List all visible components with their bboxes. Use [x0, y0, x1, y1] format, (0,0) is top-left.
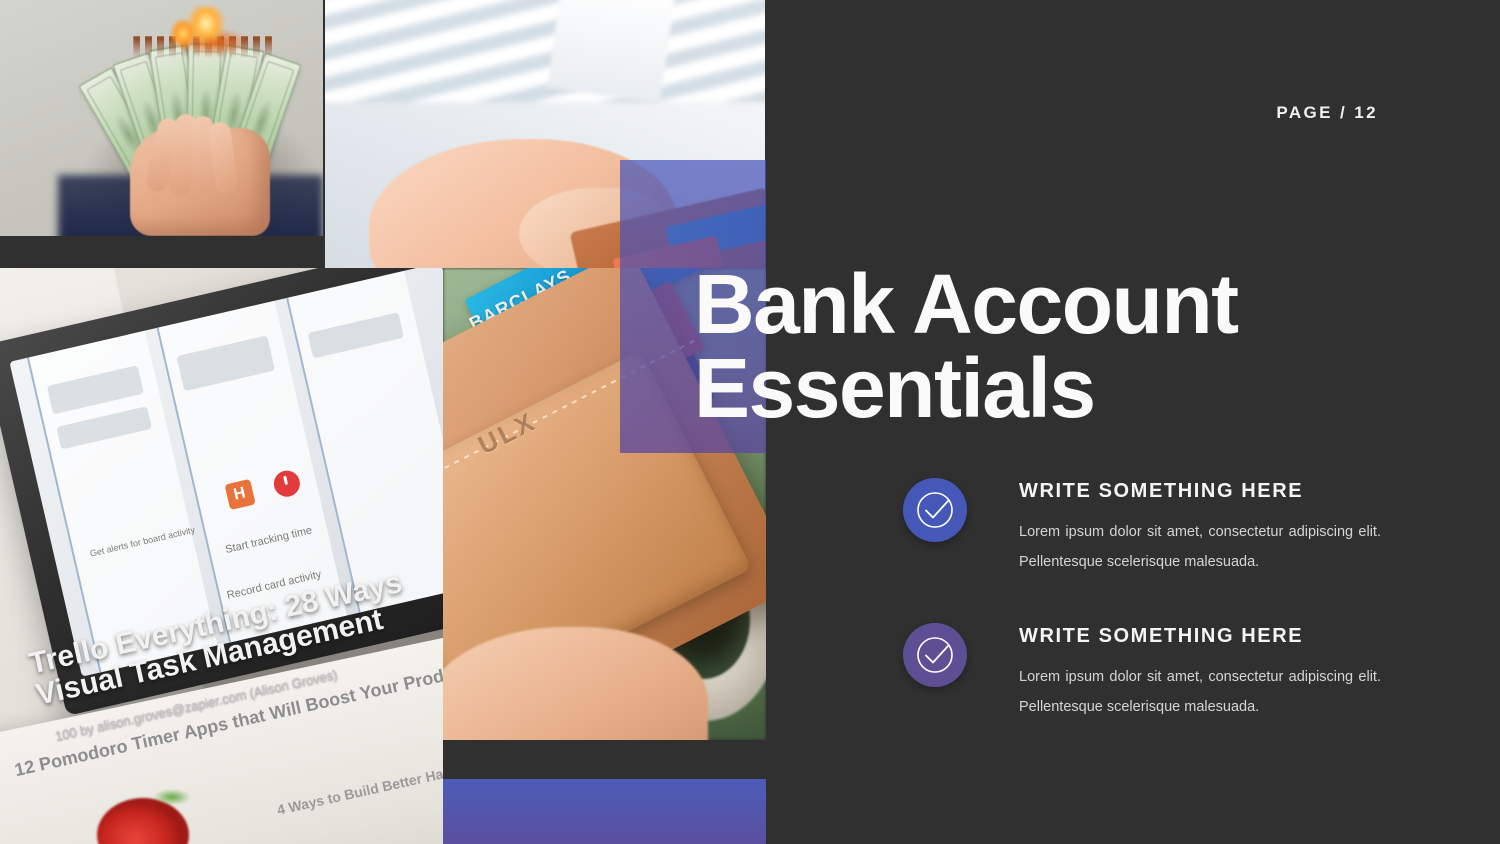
burning-money-photo: [0, 0, 323, 236]
bottom-accent-rectangle: [443, 779, 766, 844]
presentation-slide: H Start tracking time Record card activi…: [0, 0, 1500, 844]
check-circle-icon: [903, 623, 967, 687]
flame-icon: [140, 6, 260, 56]
check-circle-icon: [903, 478, 967, 542]
page-title-line-2: Essentials: [694, 346, 1394, 430]
feature-body: Lorem ipsum dolor sit amet, consectetur …: [1019, 518, 1381, 577]
window-blinds: [325, 0, 765, 102]
window-pane: [547, 0, 675, 104]
page-title: Bank Account Essentials: [694, 262, 1394, 430]
feature-title: WRITE SOMETHING HERE: [1019, 625, 1303, 648]
page-title-line-1: Bank Account: [694, 262, 1394, 346]
tablet-newspaper-photo: H Start tracking time Record card activi…: [0, 268, 443, 844]
feature-body: Lorem ipsum dolor sit amet, consectetur …: [1019, 663, 1381, 722]
feature-title: WRITE SOMETHING HERE: [1019, 480, 1303, 503]
feature-item[interactable]: WRITE SOMETHING HERE Lorem ipsum dolor s…: [903, 623, 1393, 743]
page-number-label: PAGE / 12: [1276, 103, 1378, 123]
feature-item[interactable]: WRITE SOMETHING HERE Lorem ipsum dolor s…: [903, 478, 1393, 598]
tomato-leaf: [146, 786, 198, 808]
